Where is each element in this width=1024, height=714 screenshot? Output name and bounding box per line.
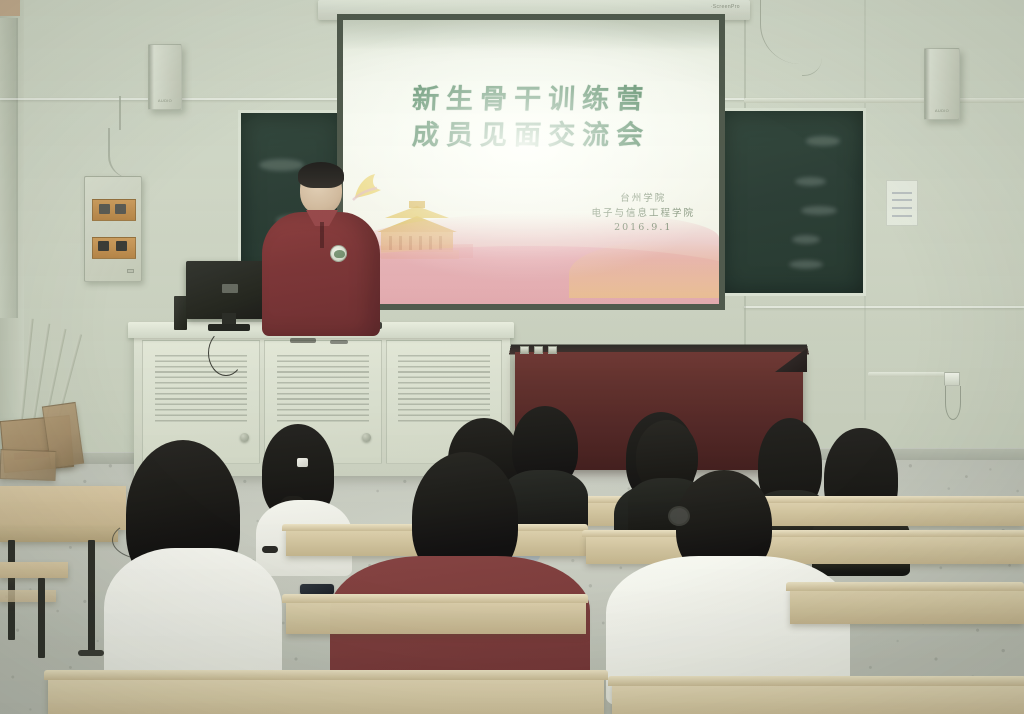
desk-row-front-right: [790, 588, 1024, 624]
wall-speaker-left: AUDIO: [148, 44, 182, 110]
desktop-monitor[interactable]: [186, 261, 272, 319]
panel-switch-1[interactable]: [99, 204, 110, 214]
side-bench-leg: [38, 578, 45, 658]
desk-row-foreground-left-edge: [44, 670, 608, 680]
panel-switch-3[interactable]: [98, 241, 109, 251]
electrical-breaker-panel[interactable]: [84, 176, 142, 282]
desk-row-front-right-edge: [786, 582, 1024, 591]
chalkboard-right: [718, 108, 866, 296]
presenter-neck: [0, 0, 20, 16]
desk-row-middle-right-edge: [582, 530, 1024, 537]
peace-emblem-icon: [349, 168, 387, 204]
desk-row-front-left: [286, 600, 586, 634]
slide-credit-school: 电子与信息工程学院: [591, 207, 695, 222]
desk-row-foreground-right-edge: [608, 676, 1024, 686]
door-frame: [0, 18, 18, 318]
side-desk-top: [0, 486, 126, 530]
monitor-cable: [208, 330, 244, 376]
desk-row-middle-right: [586, 534, 1024, 564]
podium-lock-center[interactable]: [362, 433, 371, 442]
presenter-hair: [298, 162, 344, 188]
outlet-cable: [945, 386, 961, 420]
cardboard-box-3: [0, 449, 57, 481]
wall-notice-sign: [886, 180, 918, 226]
desk-row-front-left-edge: [282, 594, 588, 603]
wood-table-clip-1: [520, 346, 529, 354]
slide-credit-university: 台州学院: [591, 192, 695, 207]
wood-table-clip-3: [548, 346, 557, 354]
side-desk-apron: [0, 528, 118, 542]
slide-title-block: 新生骨干训练营 成员见面交流会: [343, 82, 719, 153]
monitor-rear-label: [222, 284, 238, 293]
panel-switch-2[interactable]: [115, 204, 126, 214]
classroom-photo: AUDIO AUDIO ·ScreenPro: [0, 0, 1024, 714]
student-s1-wristband: [262, 546, 278, 553]
presenter-badge-icon: [330, 245, 347, 262]
panel-wire-2: [119, 96, 121, 130]
student-s3-glasses-icon: [668, 506, 690, 526]
desk-clutter-4: [290, 338, 316, 343]
power-outlet[interactable]: [944, 372, 960, 386]
slide-credits-block: 台州学院 电子与信息工程学院 2016.9.1: [591, 192, 695, 236]
desk-clutter-5: [330, 340, 348, 344]
side-bench-rail: [0, 590, 56, 602]
desk-row-foreground-left: [48, 676, 604, 714]
panel-switch-4[interactable]: [116, 241, 127, 251]
projector-screen-surface: 新生骨干训练营 成员见面交流会 台州学院 电子与信息工程学院 2016.9.1: [343, 20, 719, 304]
slide-credit-date: 2016.9.1: [591, 221, 695, 236]
side-bench-seat: [0, 562, 68, 578]
wall-conduit-lower: [868, 372, 946, 377]
slide-title-line2: 成员见面交流会: [343, 118, 719, 154]
slide-title-line1: 新生骨干训练营: [343, 82, 719, 118]
presenter[interactable]: [0, 0, 20, 16]
wood-table-clip-2: [534, 346, 543, 354]
desk-row-foreground-right: [612, 682, 1024, 714]
wall-speaker-right: AUDIO: [924, 48, 960, 120]
podium-lock-left[interactable]: [240, 433, 249, 442]
wall-conduit: [744, 98, 1024, 103]
presenter-shirt-placket: [320, 222, 324, 248]
side-desk-leg-1: [88, 540, 95, 652]
student-s4-hair-clip-icon: [297, 458, 308, 467]
screen-brand-label: ·ScreenPro: [711, 4, 740, 10]
side-desk-foot: [78, 650, 104, 656]
wall-seam-right: [744, 306, 1024, 308]
panel-indicator: [127, 269, 134, 273]
